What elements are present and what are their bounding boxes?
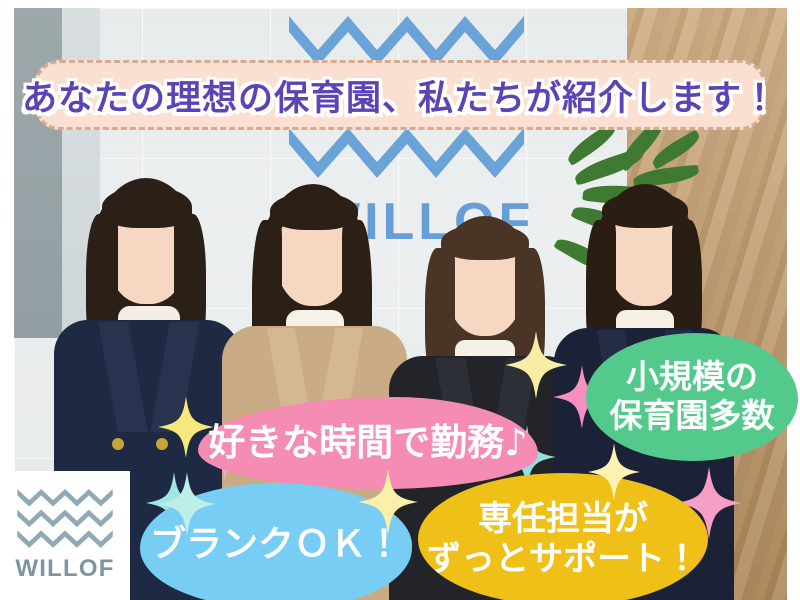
bubble-small-nursery[interactable]: 小規模の 保育園多数 — [586, 333, 798, 461]
sparkle-cyan-blue — [158, 471, 216, 537]
bubble-green-line-2: 保育園多数 — [610, 396, 775, 435]
willof-waves-icon — [17, 489, 113, 551]
person-4-bangs — [602, 192, 688, 228]
sparkle-yellow-right — [358, 468, 418, 536]
headline-banner: あなたの理想の保育園、私たちが紹介します！ — [34, 60, 766, 130]
sparkle-yellow-top — [588, 443, 640, 501]
bubble-green-text: 小規模の 保育園多数 — [610, 358, 775, 436]
bubble-green-line-1: 小規模の — [626, 357, 758, 396]
bubble-yellow-line-2: ずっとサポート！ — [427, 539, 699, 579]
person-3-bangs — [441, 224, 529, 260]
headline-text: あなたの理想の保育園、私たちが紹介します！ — [22, 70, 778, 121]
bubble-yellow-line-1: 専任担当が — [478, 499, 648, 539]
person-1-button-left — [112, 438, 124, 450]
bubble-dedicated-support[interactable]: 専任担当が ずっとサポート！ — [418, 473, 708, 600]
willof-logo-word: WILLOF — [15, 555, 114, 583]
poster-canvas: WILLOF — [0, 0, 800, 600]
person-1-bangs — [102, 186, 192, 228]
bubble-pink-text: 好きな時間で勤務♪ — [208, 421, 528, 465]
person-2-bangs — [270, 192, 358, 230]
willof-logo-card[interactable]: WILLOF — [0, 471, 130, 600]
bubble-yellow-text: 専任担当が ずっとサポート！ — [427, 499, 699, 579]
